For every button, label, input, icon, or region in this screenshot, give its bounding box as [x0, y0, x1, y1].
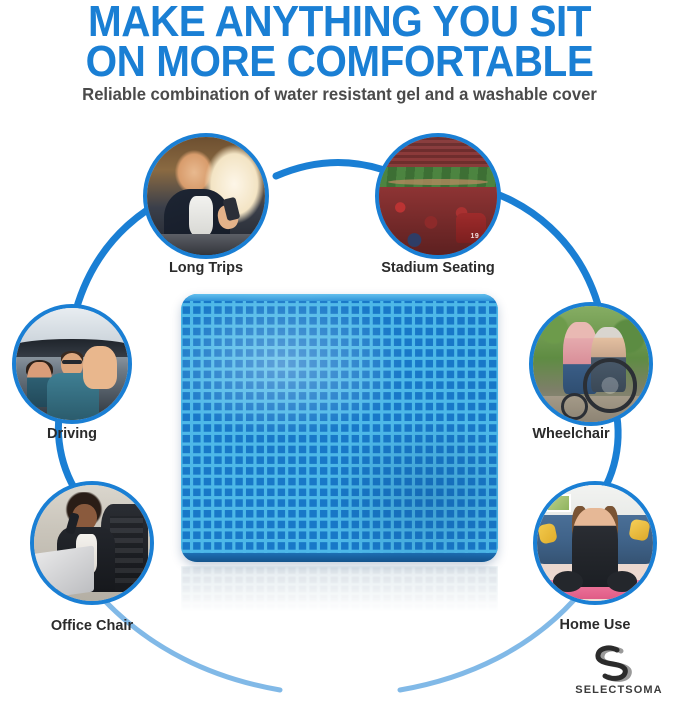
double-s-logo-icon — [591, 645, 647, 683]
photo-stadium-seating: 19 — [379, 137, 497, 255]
use-case-label-stadium-seating: Stadium Seating — [358, 260, 518, 276]
use-case-label-office-chair: Office Chair — [32, 618, 152, 634]
use-case-circle-driving[interactable] — [12, 304, 132, 424]
use-case-circle-long-trips[interactable] — [143, 133, 269, 259]
photo-office-chair — [34, 485, 150, 601]
use-case-circle-home-use[interactable] — [533, 481, 657, 605]
product-gel-cushion — [181, 294, 498, 562]
use-case-circle-wheelchair[interactable] — [529, 302, 653, 426]
use-case-label-long-trips: Long Trips — [126, 260, 286, 276]
use-case-circle-office-chair[interactable] — [30, 481, 154, 605]
brand-name: SELECTSOMA — [567, 684, 671, 696]
photo-wheelchair — [533, 306, 649, 422]
use-case-label-driving: Driving — [22, 426, 122, 442]
product-reflection — [181, 566, 498, 612]
brand-logo: SELECTSOMA — [567, 645, 671, 696]
photo-long-trips — [147, 137, 265, 255]
infographic-canvas: MAKE ANYTHING YOU SIT ON MORE COMFORTABL… — [0, 0, 679, 702]
use-case-label-home-use: Home Use — [535, 617, 655, 633]
use-case-label-wheelchair: Wheelchair — [511, 426, 631, 442]
use-case-circle-stadium-seating[interactable]: 19 — [375, 133, 501, 259]
photo-home-use — [537, 485, 653, 601]
photo-driving — [16, 308, 128, 420]
